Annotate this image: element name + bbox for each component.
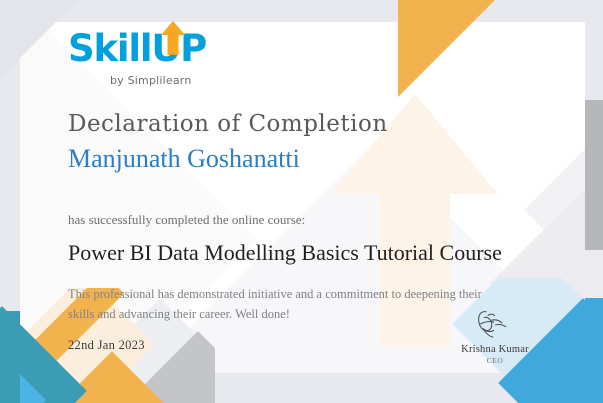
- certificate-heading: Declaration of Completion: [68, 112, 568, 137]
- certificate-blurb: This professional has demonstrated initi…: [68, 285, 498, 324]
- skillup-logo: SkillUP by Simplilearn: [68, 30, 268, 87]
- signer-name: Krishna Kumar: [440, 344, 550, 355]
- handwritten-signature-icon: [443, 308, 546, 338]
- edge-bar-teal: [0, 311, 20, 403]
- issue-date: 22nd Jan 2023: [68, 338, 145, 353]
- edge-bar-gray: [585, 100, 603, 250]
- signer-role: CEO: [440, 356, 550, 365]
- course-title: Power BI Data Modelling Basics Tutorial …: [68, 240, 568, 265]
- corner-wedge-top-left: [0, 0, 78, 78]
- certificate-content: Declaration of Completion Manjunath Gosh…: [68, 112, 568, 324]
- logo-tagline: by Simplilearn: [110, 74, 268, 87]
- certificate-canvas: SkillUP by Simplilearn Declaration of Co…: [0, 0, 603, 403]
- signature-block: Krishna Kumar CEO: [440, 308, 550, 365]
- recipient-name: Manjunath Goshanatti: [68, 145, 568, 174]
- completion-line: has successfully completed the online co…: [68, 212, 568, 228]
- edge-bar-blue: [585, 298, 603, 403]
- up-arrow-icon: [160, 21, 186, 55]
- logo-primary-text: Skill: [68, 27, 151, 70]
